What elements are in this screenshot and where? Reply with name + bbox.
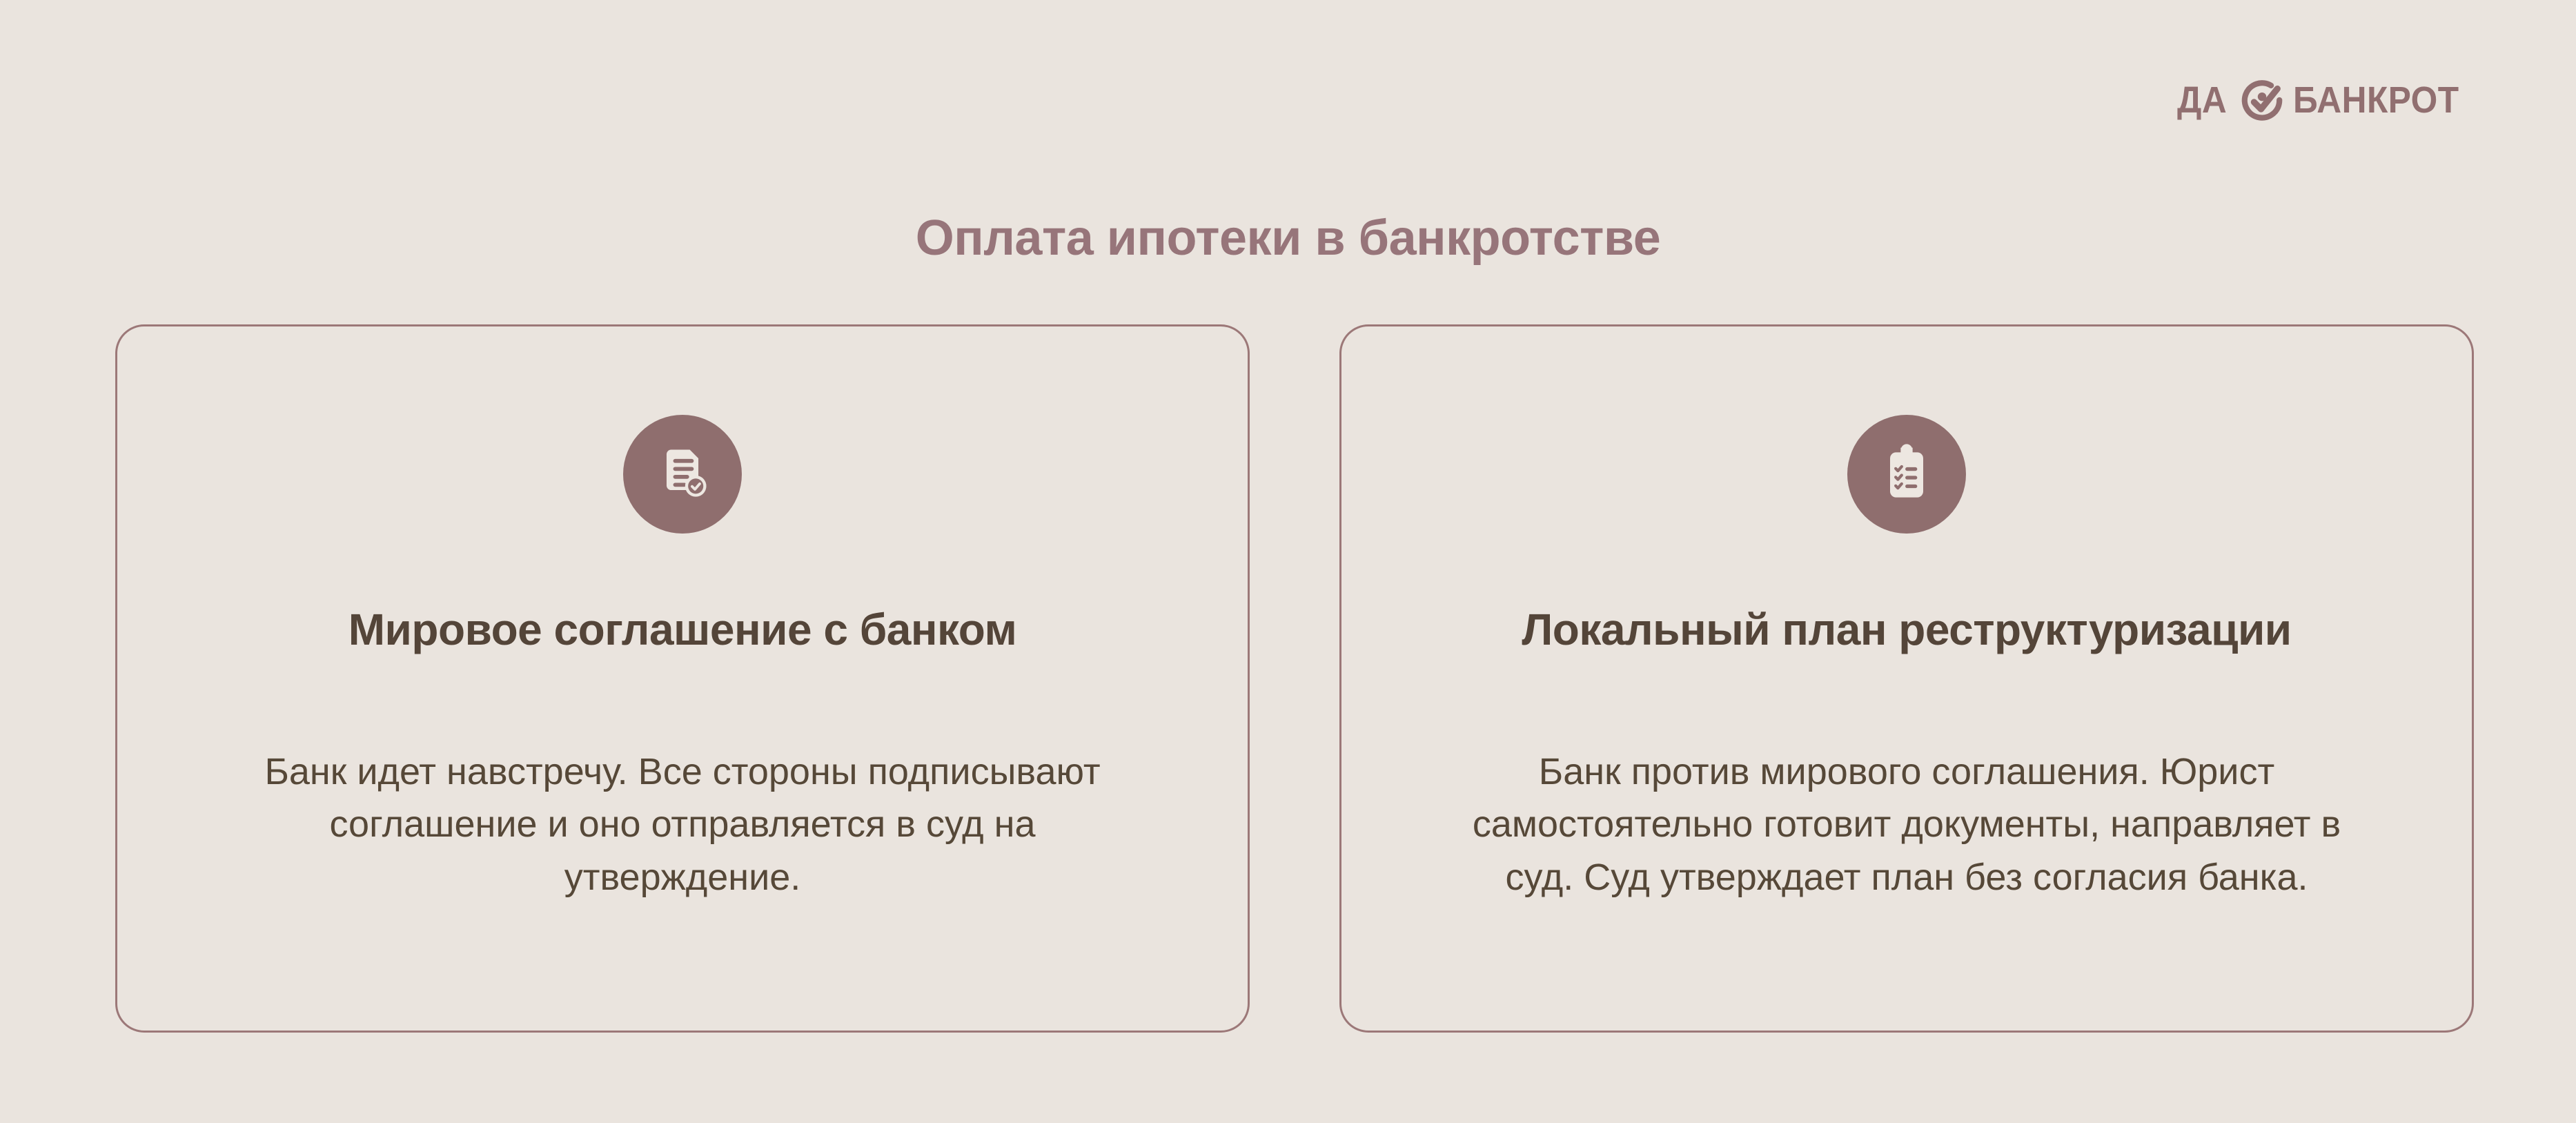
- brand-logo[interactable]: ДА БАНКРОТ: [2177, 76, 2474, 124]
- circle-check-icon: [2241, 79, 2283, 121]
- card-settlement-agreement[interactable]: Мировое соглашение с банком Банк идет на…: [115, 324, 1250, 1033]
- card-local-restructuring-plan[interactable]: Локальный план реструктуризации Банк про…: [1339, 324, 2474, 1033]
- card-heading: Локальный план реструктуризации: [1522, 605, 2291, 655]
- logo-word-bankrot: БАНКРОТ: [2293, 81, 2459, 119]
- card-heading: Мировое соглашение с банком: [348, 605, 1017, 655]
- clipboard-checklist-icon: [1847, 415, 1966, 534]
- cards-container: Мировое соглашение с банком Банк идет на…: [115, 324, 2474, 1033]
- document-check-icon: [623, 415, 742, 534]
- infographic-page: { "brand": { "logo_word_1": "ДА", "logo_…: [0, 0, 2576, 1123]
- card-body-text: Банк против мирового соглашения. Юрист с…: [1472, 745, 2341, 904]
- logo-word-da: ДА: [2177, 81, 2227, 119]
- page-title: Оплата ипотеки в банкротстве: [0, 211, 2576, 266]
- card-body-text: Банк идет навстречу. Все стороны подписы…: [248, 745, 1117, 904]
